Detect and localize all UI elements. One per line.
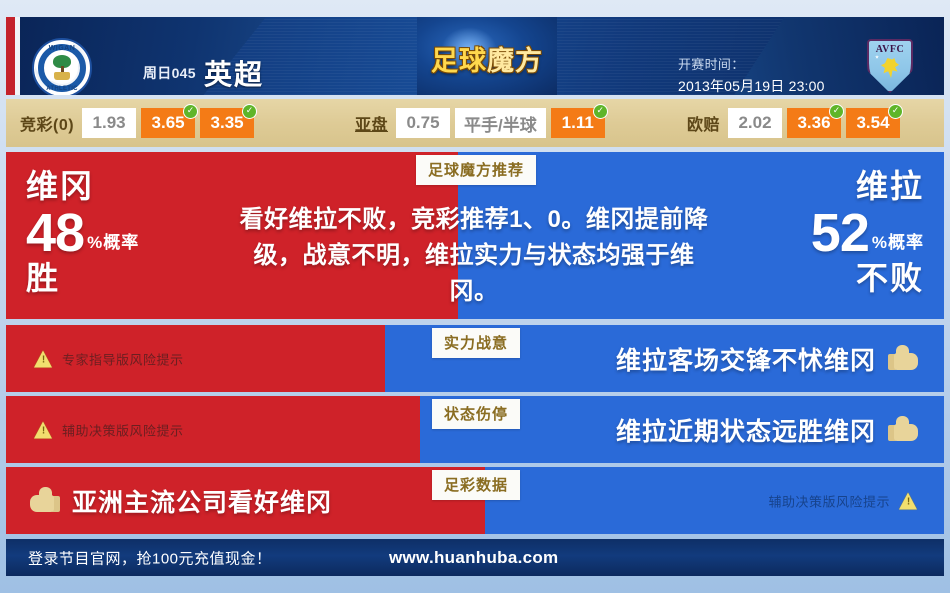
thumbs-up-icon <box>30 487 60 514</box>
row-headline-text: 亚洲主流公司看好维冈 <box>72 483 332 519</box>
odds-cell-handicap[interactable]: 平手/半球 <box>455 108 546 138</box>
odds-cell[interactable]: 2.02 <box>728 108 782 138</box>
away-probability-block: 维拉 52 %概率 不败 <box>734 168 924 296</box>
footer-bar: 登录节目官网，抢100元充值现金！ www.huanhuba.com <box>6 539 944 576</box>
odds-value: 3.65 <box>152 113 185 133</box>
row-headline: 维拉近期状态远胜维冈 <box>616 412 918 448</box>
logo-text-part2: 魔方 <box>487 46 543 76</box>
odds-group-label: 亚盘 <box>355 111 388 135</box>
match-preview-card: WIGAN ATHLETIC 周日045 英超 足球魔方 开赛时间： 2013年… <box>0 0 950 593</box>
odds-value: 1.11 <box>562 113 594 133</box>
recommendation-text: 看好维拉不败，竞彩推荐1、0。维冈提前降级，战意不明，维拉实力与状态均强于维冈。 <box>234 202 714 310</box>
home-probability-row: 48 %概率 <box>26 206 216 260</box>
away-outcome-label: 不败 <box>734 260 924 296</box>
away-probability-row: 52 %概率 <box>734 206 924 260</box>
thumbs-up-icon <box>888 416 918 443</box>
check-icon: ✓ <box>829 104 844 119</box>
odds-cell[interactable]: 3.54 ✓ <box>846 108 900 138</box>
odds-cell[interactable]: 1.93 <box>82 108 136 138</box>
logo-text: 足球魔方 <box>417 39 557 78</box>
home-probability-block: 维冈 48 %概率 胜 <box>26 168 216 296</box>
odds-value: 平手/半球 <box>464 111 537 136</box>
league-name: 英超 <box>204 53 264 93</box>
warning-icon <box>899 492 918 509</box>
risk-note-text: 辅助决策版风险提示 <box>768 491 890 510</box>
away-probability-value: 52 <box>811 206 869 260</box>
tab-betting-data[interactable]: 足彩数据 <box>432 470 520 500</box>
odds-value: 3.54 <box>856 113 889 133</box>
risk-note-left: 辅助决策版风险提示 <box>34 420 184 439</box>
row-headline: 维拉客场交锋不怵维冈 <box>616 341 918 377</box>
check-icon: ✓ <box>593 104 608 119</box>
odds-group-yapan: 亚盘 0.75 平手/半球 1.11 ✓ <box>355 99 610 147</box>
badge-bottom-text: ATHLETIC <box>34 86 90 92</box>
away-badge-text: AVFC <box>867 44 913 55</box>
odds-group-label: 竞彩(0) <box>20 111 74 135</box>
logo-text-part1: 足球 <box>431 46 487 76</box>
footer-website[interactable]: www.huanhuba.com <box>389 548 558 568</box>
kickoff-time: 2013年05月19日 23:00 <box>678 76 825 95</box>
thumb-pad <box>894 424 918 441</box>
thumbs-up-icon <box>888 345 918 372</box>
away-team-badge-avfc: AVFC <box>867 39 913 95</box>
odds-group-label: 欧赔 <box>687 111 720 135</box>
warning-icon <box>34 350 53 367</box>
crown-icon <box>54 72 70 80</box>
odds-value: 0.75 <box>406 113 439 133</box>
odds-cell[interactable]: 0.75 <box>396 108 450 138</box>
brand-logo: 足球魔方 <box>417 17 557 95</box>
tab-form-injury[interactable]: 状态伤停 <box>432 399 520 429</box>
home-outcome-label: 胜 <box>26 260 216 296</box>
check-icon: ✓ <box>242 104 257 119</box>
risk-note-text: 辅助决策版风险提示 <box>62 420 184 439</box>
header-red-stripe <box>6 17 15 95</box>
badge-top-text: WIGAN <box>34 45 90 52</box>
thumb-pad <box>30 495 54 512</box>
thumb-pad <box>894 353 918 370</box>
match-round: 周日045 <box>143 63 196 83</box>
warning-icon <box>34 421 53 438</box>
check-icon: ✓ <box>888 104 903 119</box>
odds-value: 3.36 <box>797 113 830 133</box>
kickoff-label: 开赛时间： <box>678 54 745 73</box>
risk-note-text: 专家指导版风险提示 <box>62 349 184 368</box>
row-headline-text: 维拉近期状态远胜维冈 <box>616 412 876 448</box>
tab-recommendation[interactable]: 足球魔方推荐 <box>416 155 536 185</box>
risk-note-left: 专家指导版风险提示 <box>34 349 184 368</box>
odds-cell[interactable]: 3.65 ✓ <box>141 108 195 138</box>
home-probability-value: 48 <box>26 206 84 260</box>
check-icon: ✓ <box>183 104 198 119</box>
home-team-badge-wigan: WIGAN ATHLETIC <box>32 38 92 95</box>
odds-cell[interactable]: 3.36 ✓ <box>787 108 841 138</box>
header-white-gap <box>15 17 20 95</box>
odds-group-oupei: 欧赔 2.02 3.36 ✓ 3.54 ✓ <box>687 99 905 147</box>
away-team-name: 维拉 <box>734 168 924 204</box>
odds-value: 2.02 <box>738 113 771 133</box>
tab-strength-intent[interactable]: 实力战意 <box>432 328 520 358</box>
row-headline: 亚洲主流公司看好维冈 <box>30 483 332 519</box>
odds-group-jingcai: 竞彩(0) 1.93 3.65 ✓ 3.35 ✓ <box>20 99 259 147</box>
away-probability-unit: %概率 <box>872 228 924 260</box>
risk-note-right: 辅助决策版风险提示 <box>768 491 918 510</box>
odds-value: 1.93 <box>93 113 126 133</box>
home-probability-unit: %概率 <box>87 228 139 260</box>
odds-bar: 竞彩(0) 1.93 3.65 ✓ 3.35 ✓ 亚盘 0.75 平手/半球 1… <box>6 99 944 147</box>
odds-cell[interactable]: 1.11 ✓ <box>551 108 605 138</box>
home-team-name: 维冈 <box>26 168 216 204</box>
row-headline-text: 维拉客场交锋不怵维冈 <box>616 341 876 377</box>
footer-promo-text: 登录节目官网，抢100元充值现金！ <box>28 547 272 568</box>
odds-cell[interactable]: 3.35 ✓ <box>200 108 254 138</box>
header-bar: WIGAN ATHLETIC 周日045 英超 足球魔方 开赛时间： 2013年… <box>6 17 944 95</box>
odds-value: 3.35 <box>211 113 244 133</box>
